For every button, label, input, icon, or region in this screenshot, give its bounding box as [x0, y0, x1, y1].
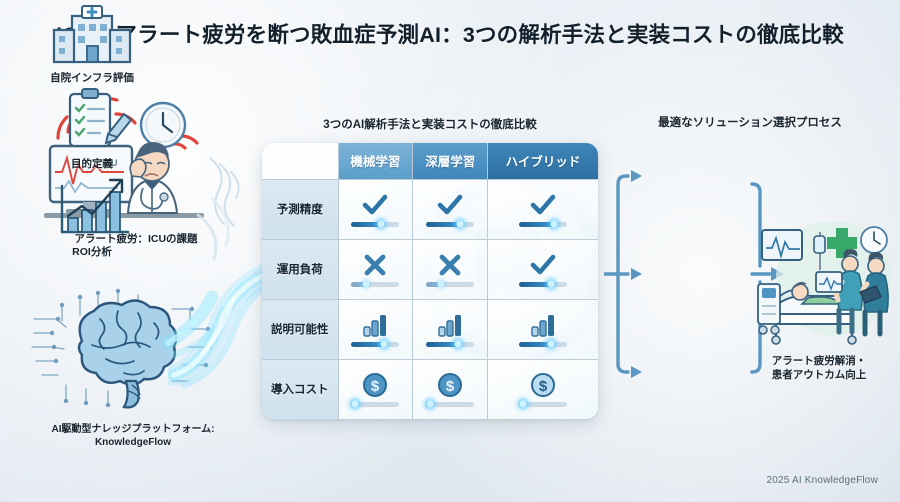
slider-3-1[interactable]	[426, 402, 474, 407]
process-heading: 最適なソリューション選択プロセス	[612, 114, 888, 130]
dollar-coin-icon: $	[360, 372, 390, 398]
cross-icon	[435, 252, 465, 278]
bar-chart-icon	[360, 312, 390, 338]
growth-chart-icon	[46, 176, 138, 238]
process-step-1-label: 自院インフラ評価	[36, 70, 148, 85]
cell-2-1	[413, 299, 488, 359]
svg-text:$: $	[371, 378, 380, 395]
slider-1-1[interactable]	[426, 282, 474, 287]
row-label-0: 予測精度	[262, 179, 338, 239]
check-icon	[360, 192, 390, 218]
icu-care-team-icon	[756, 222, 896, 350]
column-header-3: ハイブリッド	[488, 143, 598, 179]
cell-3-0: $	[338, 359, 413, 419]
column-header-2: 深層学習	[413, 143, 488, 179]
cell-1-0	[338, 239, 413, 299]
check-icon	[528, 192, 558, 218]
cell-3-1: $	[413, 359, 488, 419]
column-header-1: 機械学習	[338, 143, 413, 179]
cell-0-0	[338, 179, 413, 239]
table-row: 導入コスト $ $	[262, 359, 598, 419]
process-step-3-label: ROI分析	[36, 244, 148, 259]
cross-icon	[360, 252, 390, 278]
svg-text:$: $	[539, 378, 548, 395]
table-corner-cell	[262, 143, 338, 179]
table-row: 説明可能性	[262, 299, 598, 359]
row-label-1: 運用負荷	[262, 239, 338, 299]
dollar-coin-icon: $	[528, 372, 558, 398]
check-icon	[528, 252, 558, 278]
slider-2-2[interactable]	[519, 342, 567, 347]
cell-1-2	[488, 239, 598, 299]
row-label-2: 説明可能性	[262, 299, 338, 359]
infographic-canvas: ICUのアラート疲労を断つ敗血症予測AI：3つの解析手法と実装コストの徹底比較 …	[0, 0, 900, 502]
comparison-table: 機械学習 深層学習 ハイブリッド 予測精度	[262, 143, 598, 419]
bar-chart-icon	[435, 312, 465, 338]
slider-1-0[interactable]	[351, 282, 399, 287]
brain-caption-line2: KnowledgeFlow	[8, 436, 258, 449]
bar-chart-icon	[528, 312, 558, 338]
slider-0-1[interactable]	[426, 222, 474, 227]
slider-2-1[interactable]	[426, 342, 474, 347]
table-row: 運用負荷	[262, 239, 598, 299]
check-icon	[435, 192, 465, 218]
table-header-row: 機械学習 深層学習 ハイブリッド	[262, 143, 598, 179]
outcome-caption-line2: 患者アウトカム向上	[740, 369, 898, 383]
cell-2-2	[488, 299, 598, 359]
slider-1-2[interactable]	[519, 282, 567, 287]
process-step-2[interactable]: 目的定義	[36, 88, 148, 171]
brain-caption-line1: AI駆動型ナレッジプラットフォーム:	[8, 423, 258, 436]
cell-0-2	[488, 179, 598, 239]
table-row: 予測精度	[262, 179, 598, 239]
slider-0-0[interactable]	[351, 222, 399, 227]
cell-0-1	[413, 179, 488, 239]
brain-scene-caption: AI駆動型ナレッジプラットフォーム: KnowledgeFlow	[8, 423, 258, 449]
outcome-caption: アラート疲労解消・ 患者アウトカム向上	[740, 355, 898, 382]
outcome-caption-line1: アラート疲労解消・	[740, 355, 898, 369]
process-step-2-label: 目的定義	[36, 156, 148, 171]
svg-text:$: $	[446, 378, 455, 395]
slider-2-0[interactable]	[351, 342, 399, 347]
slider-3-0[interactable]	[351, 402, 399, 407]
hospital-building-icon	[46, 2, 138, 64]
process-step-3[interactable]: ROI分析	[36, 176, 148, 259]
cell-2-0	[338, 299, 413, 359]
comparison-table-card: 機械学習 深層学習 ハイブリッド 予測精度	[262, 143, 598, 419]
slider-3-2[interactable]	[519, 402, 567, 407]
footer-credit: 2025 AI KnowledgeFlow	[767, 475, 879, 486]
clipboard-checklist-icon	[46, 88, 138, 150]
table-heading: 3つのAI解析手法と実装コストの徹底比較	[256, 116, 604, 132]
cell-3-2: $	[488, 359, 598, 419]
dollar-coin-icon: $	[435, 372, 465, 398]
row-label-3: 導入コスト	[262, 359, 338, 419]
cell-1-1	[413, 239, 488, 299]
process-step-1[interactable]: 自院インフラ評価	[36, 2, 148, 85]
slider-0-2[interactable]	[519, 222, 567, 227]
